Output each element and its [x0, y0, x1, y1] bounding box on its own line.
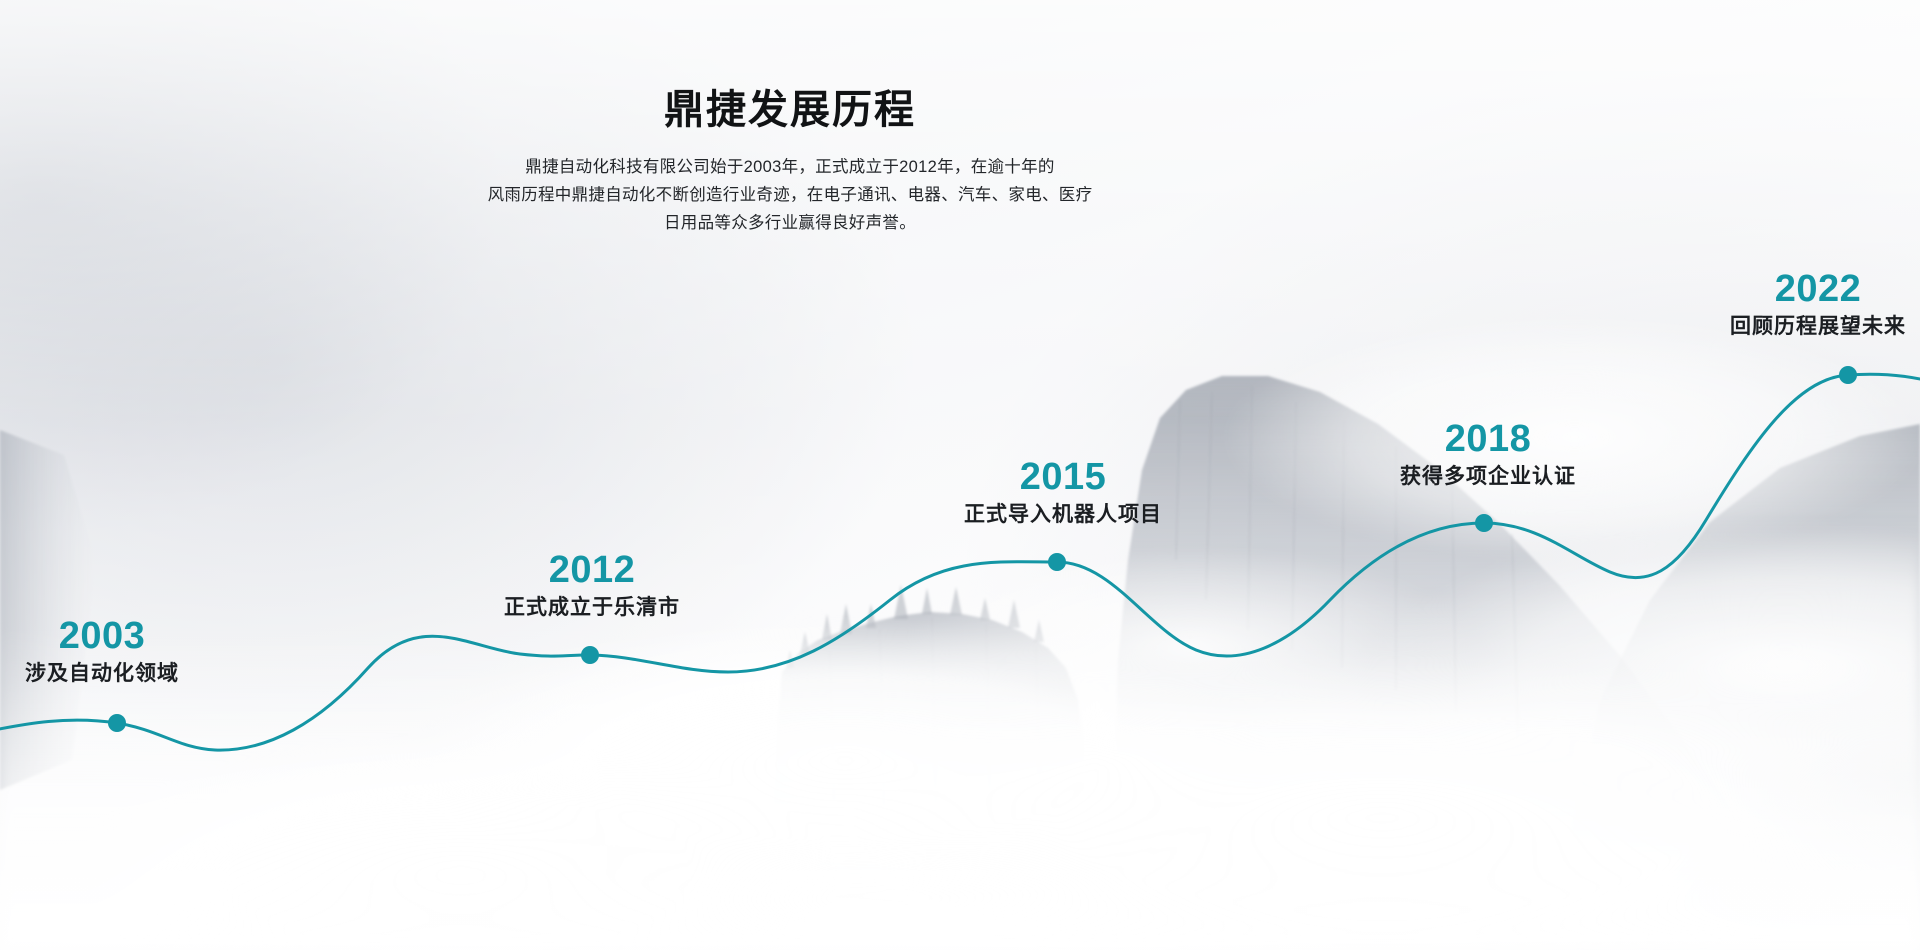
milestone-label: 获得多项企业认证: [1400, 464, 1576, 490]
milestone-year: 2012: [504, 551, 680, 591]
milestone-2022[interactable]: 2022回顾历程展望未来: [1730, 270, 1906, 340]
milestone-year: 2015: [964, 458, 1162, 498]
milestone-label: 回顾历程展望未来: [1730, 314, 1906, 340]
timeline-milestones: 2003涉及自动化领域2012正式成立于乐清市2015正式导入机器人项目2018…: [0, 0, 1920, 950]
milestone-2015[interactable]: 2015正式导入机器人项目: [964, 458, 1162, 528]
slide-canvas: 鼎捷发展历程 鼎捷自动化科技有限公司始于2003年，正式成立于2012年，在逾十…: [0, 0, 1920, 950]
milestone-year: 2022: [1730, 270, 1906, 310]
milestone-label: 正式成立于乐清市: [504, 595, 680, 621]
milestone-label: 涉及自动化领域: [25, 661, 179, 687]
milestone-label: 正式导入机器人项目: [964, 502, 1162, 528]
milestone-2018[interactable]: 2018获得多项企业认证: [1400, 420, 1576, 490]
milestone-2003[interactable]: 2003涉及自动化领域: [25, 617, 179, 687]
milestone-year: 2003: [25, 617, 179, 657]
milestone-year: 2018: [1400, 420, 1576, 460]
milestone-2012[interactable]: 2012正式成立于乐清市: [504, 551, 680, 621]
